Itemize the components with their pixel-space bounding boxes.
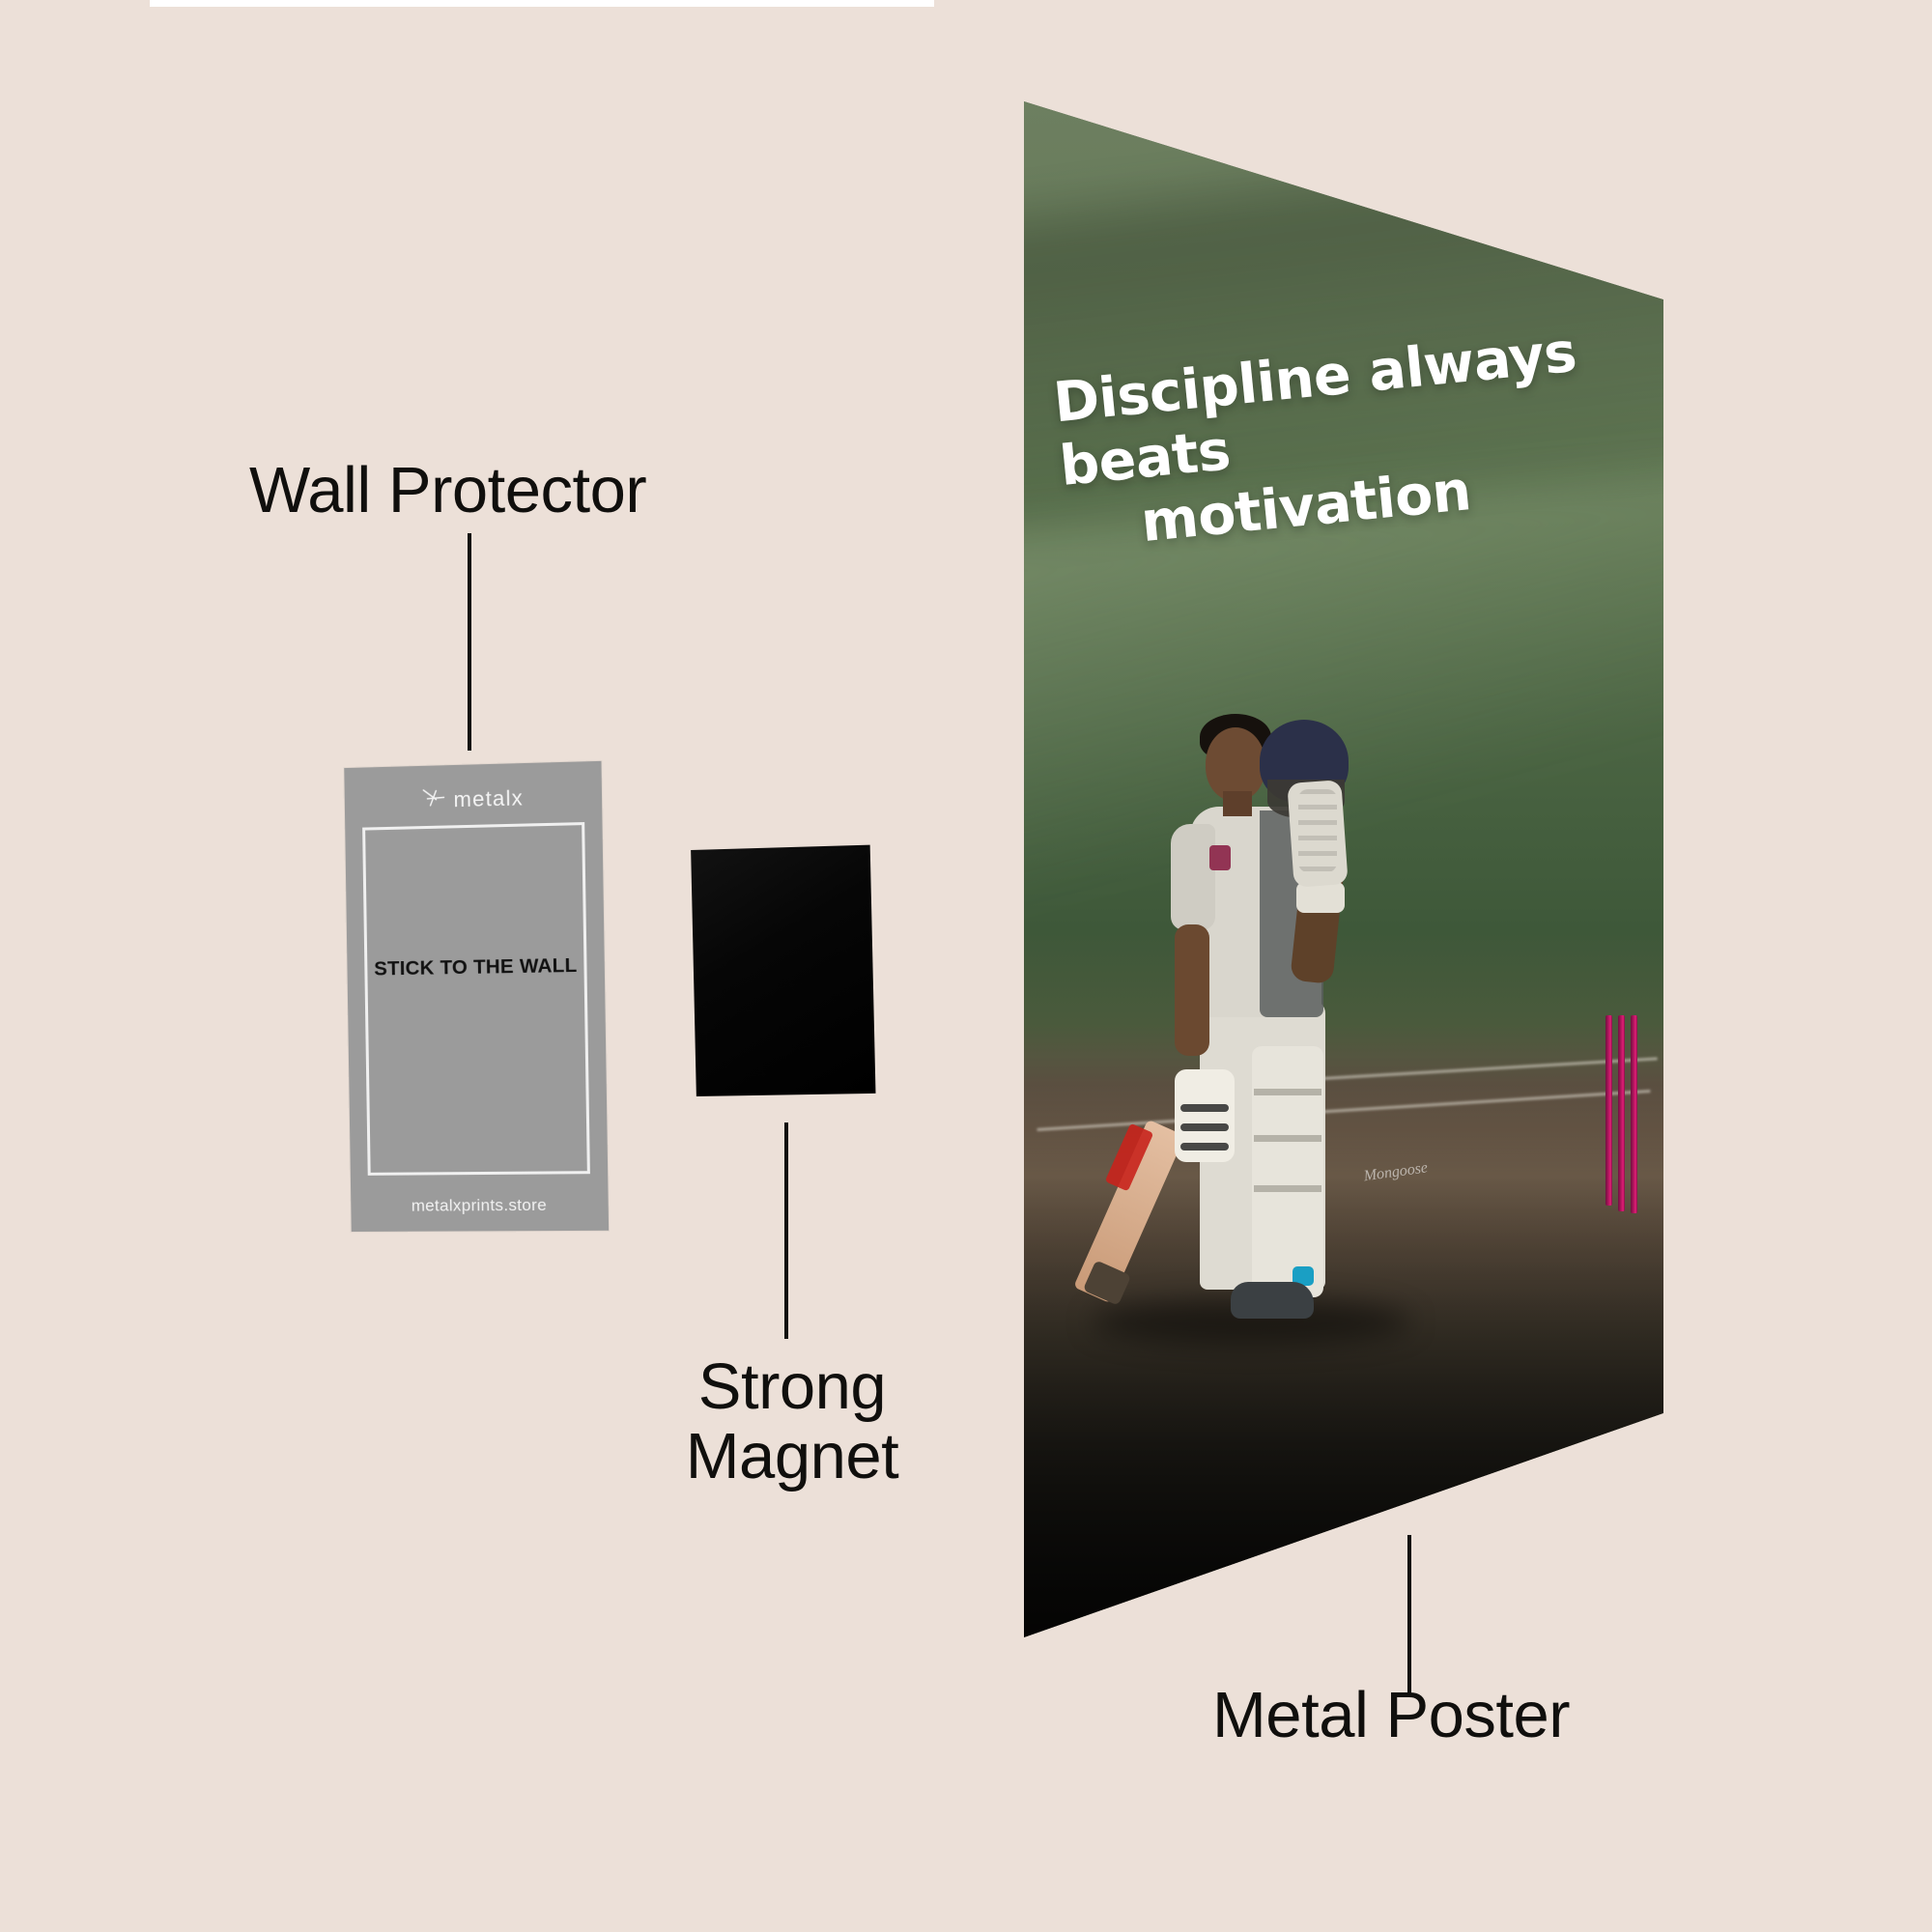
leader-line-metal-poster — [1407, 1535, 1411, 1693]
wall-protector-brand-logo: metalx — [345, 782, 603, 815]
top-white-band — [150, 0, 934, 7]
wall-protector-website-url: metalxprints.store — [351, 1195, 609, 1216]
callout-label-strong-magnet: Strong Magnet — [676, 1352, 908, 1492]
wall-protector-inner-frame — [362, 822, 590, 1176]
wall-protector-card[interactable]: metalx STICK TO THE WALL metalxprints.st… — [344, 761, 609, 1232]
metalx-cross-icon — [421, 786, 446, 813]
leader-line-strong-magnet — [784, 1122, 788, 1339]
product-feature-diagram: Wall Protector metalx STICK TO THE WALL … — [0, 0, 1932, 1932]
wall-protector-instruction-text: STICK TO THE WALL — [347, 953, 605, 981]
metal-poster-panel[interactable]: Mongoose Discipline always beats motivat… — [1024, 101, 1663, 1637]
wall-protector-brand-text: metalx — [453, 785, 524, 812]
cricket-batsman-figure: Mongoose — [1159, 710, 1449, 1502]
cricket-stumps-icon — [1602, 1015, 1642, 1213]
strong-magnet-tile[interactable] — [691, 845, 875, 1096]
callout-label-metal-poster: Metal Poster — [1212, 1681, 1570, 1750]
leader-line-wall-protector — [468, 533, 471, 751]
poster-signature-watermark: Mongoose — [1363, 1156, 1455, 1194]
callout-label-wall-protector: Wall Protector — [249, 456, 646, 526]
